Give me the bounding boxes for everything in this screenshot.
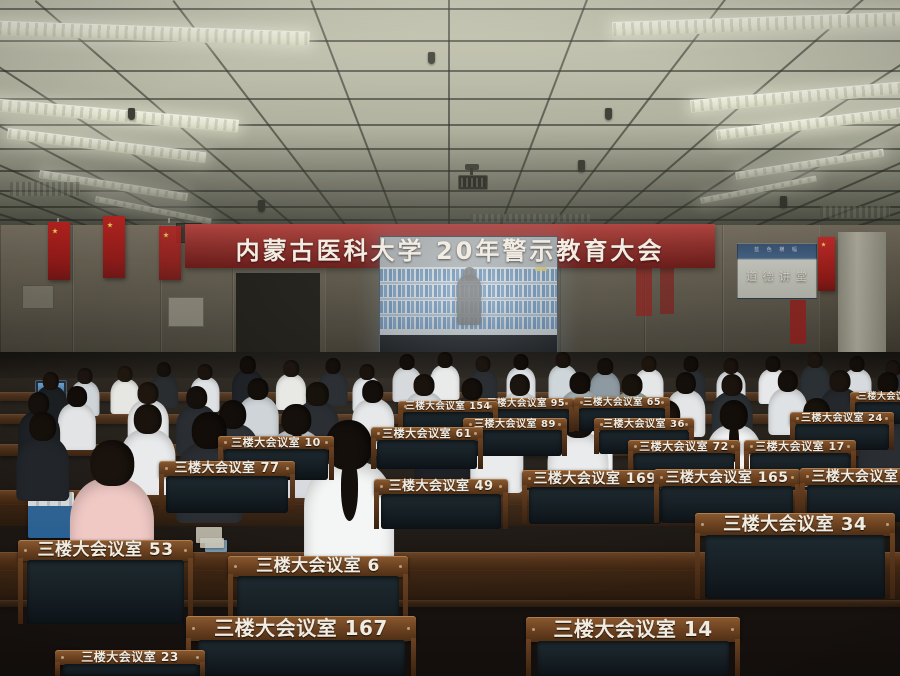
person-head bbox=[77, 368, 92, 384]
projector-body bbox=[458, 175, 488, 190]
audience-member bbox=[16, 412, 69, 506]
right-column bbox=[838, 232, 886, 352]
person-head bbox=[570, 372, 591, 394]
banner-text: 内蒙古医科大学 20年警示教育大会 bbox=[185, 231, 715, 266]
chair-frame-left bbox=[695, 533, 700, 599]
seat-label: 三楼大会议室 53 bbox=[18, 540, 193, 561]
seat-label: 三楼大会议室 77 bbox=[159, 461, 295, 477]
person-head bbox=[622, 374, 643, 396]
flag-icon bbox=[48, 222, 70, 280]
red-drape bbox=[660, 266, 674, 314]
wall-sign-left bbox=[22, 285, 54, 309]
person-head bbox=[723, 358, 738, 374]
suspended-ceiling bbox=[0, 0, 900, 232]
conference-chair[interactable]: 三楼大会议室 53 bbox=[18, 540, 193, 624]
seat-label: 三楼大会议室 169 bbox=[522, 470, 668, 488]
red-drape bbox=[790, 300, 806, 344]
person-torso bbox=[16, 436, 69, 500]
chair-frame-left bbox=[18, 558, 23, 624]
conference-chair[interactable]: 三楼大会议室 77 bbox=[159, 461, 295, 513]
seat-label: 三楼大会议室 36 bbox=[594, 418, 694, 431]
person-head bbox=[197, 364, 212, 380]
flag-icon bbox=[818, 237, 835, 291]
seat-label: 三楼大会议室 65 bbox=[574, 397, 670, 409]
chair-frame-right bbox=[735, 639, 740, 676]
chair-back bbox=[377, 440, 478, 469]
person-head bbox=[29, 412, 57, 441]
person-head bbox=[90, 440, 134, 486]
person-head bbox=[778, 370, 798, 392]
person-head bbox=[807, 352, 822, 368]
ceiling-projector-icon bbox=[455, 168, 489, 190]
chair-frame-right bbox=[889, 422, 894, 450]
chair-back bbox=[198, 640, 405, 676]
wall-poster: 蓝 色 横 幅 道 德 讲 堂 bbox=[737, 243, 817, 299]
chair-frame-right bbox=[188, 558, 193, 624]
chair-frame-left bbox=[522, 485, 527, 524]
paper-handout bbox=[200, 538, 224, 548]
person-head bbox=[67, 386, 87, 407]
person-head bbox=[133, 404, 162, 434]
person-head bbox=[117, 366, 132, 382]
chair-frame-left bbox=[374, 492, 379, 529]
person-head bbox=[683, 356, 698, 372]
seat-label: 三楼大会议室 10 bbox=[218, 436, 334, 450]
ceiling-shading bbox=[0, 0, 900, 232]
flag-icon bbox=[103, 216, 125, 278]
person-head bbox=[722, 374, 743, 396]
poster-caption: 道 德 讲 堂 bbox=[738, 268, 816, 284]
seat-label: 三楼大会议室 41 bbox=[850, 392, 900, 403]
person-head bbox=[362, 380, 384, 403]
person-head bbox=[325, 358, 340, 374]
person-head bbox=[138, 382, 159, 404]
seat-label: 三楼大会议室 61 bbox=[371, 427, 483, 441]
chair-frame-left bbox=[371, 438, 376, 469]
seat-label: 三楼大会议室 34 bbox=[695, 513, 895, 536]
seat-label: 三楼大会议室 72 bbox=[628, 440, 740, 454]
chair-back bbox=[537, 641, 730, 676]
person-head bbox=[676, 372, 696, 394]
seat-label: 三楼大会议室 14 bbox=[526, 617, 740, 642]
person-head bbox=[510, 374, 530, 396]
chair-frame-left bbox=[159, 474, 164, 513]
seat-label: 三楼大会议室 24 bbox=[790, 412, 894, 425]
chair-frame-right bbox=[503, 492, 508, 529]
seat-label: 三楼大会议室 165 bbox=[654, 469, 800, 487]
seat-label: 三楼大会议室 167 bbox=[186, 616, 416, 641]
conference-chair[interactable]: 三楼大会议室 14 bbox=[526, 617, 740, 676]
chair-back bbox=[529, 487, 660, 524]
conference-chair[interactable]: 三楼大会议室 49 bbox=[374, 479, 508, 529]
chair-frame-right bbox=[562, 428, 567, 456]
conference-chair[interactable]: 三楼大会议室 167 bbox=[186, 616, 416, 676]
person-head bbox=[43, 372, 60, 390]
person-head bbox=[830, 370, 851, 392]
person-head bbox=[186, 386, 208, 409]
chair-frame-right bbox=[890, 533, 895, 599]
chair-frame-left bbox=[526, 639, 531, 676]
chair-frame-right bbox=[478, 438, 483, 469]
person-head bbox=[283, 360, 299, 377]
person-head bbox=[399, 354, 414, 370]
conference-chair[interactable]: 三楼大会议室 23 bbox=[55, 650, 205, 676]
chair-back bbox=[63, 664, 198, 676]
person-head bbox=[641, 356, 656, 372]
person-head bbox=[248, 378, 269, 400]
flag-icon bbox=[159, 226, 181, 280]
seat-label: 三楼大会议室 110 bbox=[800, 468, 900, 486]
chair-back bbox=[166, 476, 288, 513]
person-head bbox=[437, 352, 452, 368]
chair-back bbox=[705, 535, 885, 599]
chair-frame-right bbox=[290, 474, 295, 513]
seat-label: 三楼大会议室 154 bbox=[398, 401, 498, 413]
event-banner: 内蒙古医科大学 20年警示教育大会 bbox=[185, 224, 715, 268]
chair-frame-right bbox=[411, 638, 416, 676]
person-head bbox=[157, 362, 171, 377]
person-head bbox=[513, 354, 528, 370]
person-head bbox=[240, 356, 257, 374]
conference-chair[interactable]: 三楼大会议室 61 bbox=[371, 427, 483, 469]
person-head bbox=[306, 382, 328, 406]
poster-top-strip: 蓝 色 横 幅 bbox=[738, 246, 816, 253]
chair-back bbox=[381, 494, 502, 529]
seat-label: 三楼大会议室 23 bbox=[55, 650, 205, 665]
conference-chair[interactable]: 三楼大会议室 34 bbox=[695, 513, 895, 599]
chair-back bbox=[27, 560, 185, 624]
chair-frame-left bbox=[654, 484, 659, 523]
seat-label: 三楼大会议室 17 bbox=[744, 440, 856, 454]
conference-chair[interactable]: 三楼大会议室 169 bbox=[522, 470, 668, 524]
red-drape bbox=[636, 266, 652, 316]
seat-label: 三楼大会议室 6 bbox=[228, 556, 408, 577]
conference-hall-photo: 蓝 色 横 幅 道 德 讲 堂 内蒙古医科大学 20年警示教育大会 bbox=[0, 0, 900, 676]
person-head bbox=[555, 352, 570, 368]
person-head bbox=[414, 374, 435, 396]
wall-window-left bbox=[168, 297, 204, 327]
seat-label: 三楼大会议室 49 bbox=[374, 479, 508, 495]
chair-frame-right bbox=[329, 447, 334, 480]
person-head bbox=[359, 364, 374, 380]
person-head bbox=[475, 356, 490, 372]
